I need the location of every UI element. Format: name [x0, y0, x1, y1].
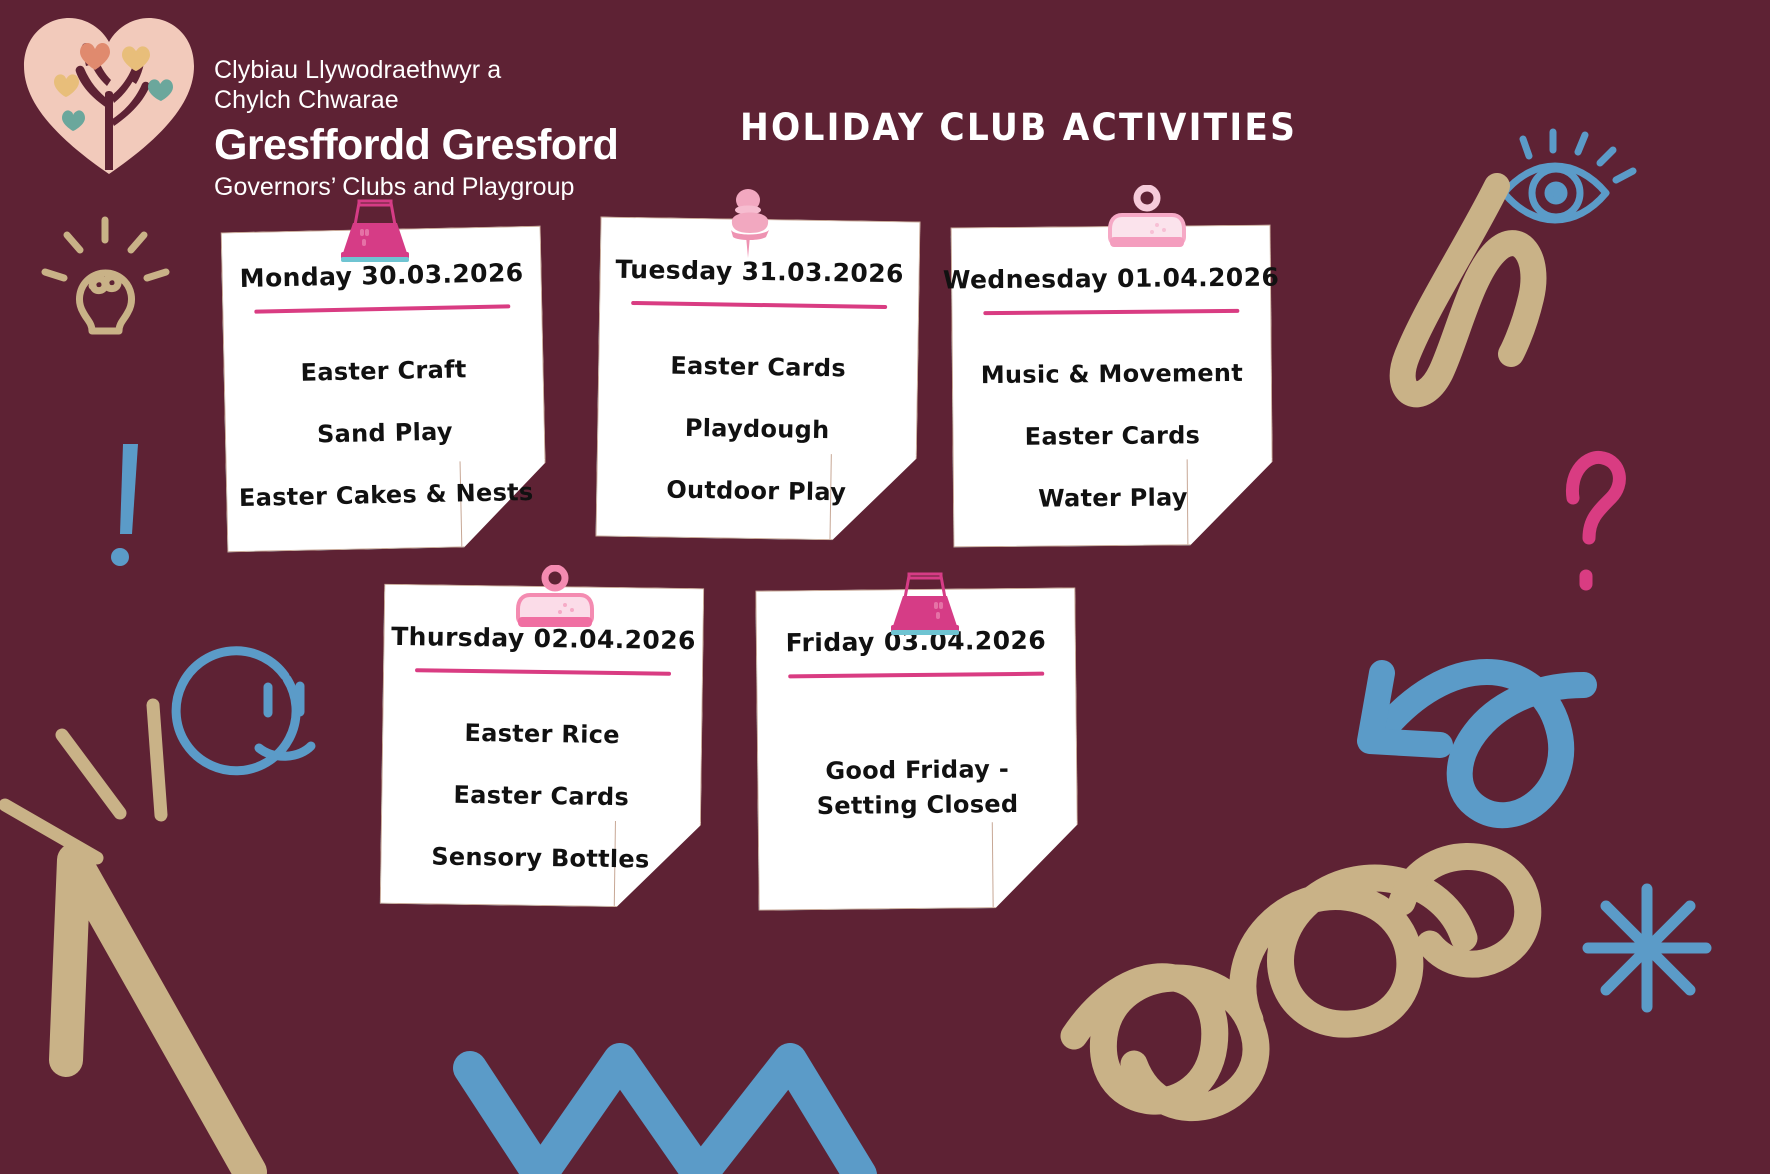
- card-activity-item: Easter Cards: [453, 778, 629, 815]
- card-divider-rule: [983, 309, 1239, 315]
- activity-card-wednesday[interactable]: Wednesday 01.04.2026 Music & Movement Ea…: [951, 225, 1274, 548]
- poster-canvas: Clybiau Llywodraethwyr a Chylch Chwarae …: [0, 0, 1770, 1174]
- logo-welsh-line-2: Chylch Chwarae: [214, 86, 618, 116]
- card-date-label: Thursday 02.04.2026: [391, 622, 696, 655]
- activity-card-monday[interactable]: Monday 30.03.2026 Easter Craft Sand Play…: [221, 226, 548, 553]
- brand-header: Clybiau Llywodraethwyr a Chylch Chwarae …: [18, 8, 618, 202]
- heart-tree-logo-icon: [18, 8, 200, 180]
- card-activity-item: Sensory Bottles: [431, 839, 650, 877]
- page-title: HOLIDAY CLUB ACTIVITIES: [740, 106, 1297, 149]
- card-divider-rule: [788, 672, 1044, 679]
- activity-card-thursday[interactable]: Thursday 02.04.2026 Easter Rice Easter C…: [380, 584, 704, 908]
- card-activity-item: Easter Cards: [670, 349, 846, 387]
- logo-welsh-line-1: Clybiau Llywodraethwyr a: [214, 56, 618, 86]
- activity-card-friday[interactable]: Friday 03.04.2026 Good Friday - Setting …: [755, 587, 1078, 910]
- card-activity-item: Sand Play: [317, 414, 453, 452]
- card-date-label: Monday 30.03.2026: [239, 258, 523, 293]
- card-activity-item: Good Friday - Setting Closed: [816, 752, 1018, 824]
- card-activity-item: Easter Cakes & Nests: [239, 474, 534, 515]
- card-activity-item: Easter Cards: [1025, 418, 1201, 454]
- card-date-label: Friday 03.04.2026: [786, 626, 1047, 658]
- activity-card-tuesday[interactable]: Tuesday 31.03.2026 Easter Cards Playdoug…: [596, 217, 921, 542]
- card-date-label: Tuesday 31.03.2026: [615, 255, 904, 289]
- card-activity-item: Outdoor Play: [666, 472, 846, 510]
- logo-subtitle: Governors’ Clubs and Playgroup: [214, 172, 618, 202]
- card-divider-rule: [415, 668, 671, 676]
- card-activity-item: Easter Rice: [464, 716, 620, 753]
- card-divider-rule: [254, 304, 510, 313]
- card-activity-item: Playdough: [685, 411, 830, 448]
- card-activity-item: Music & Movement: [981, 356, 1244, 393]
- card-activity-item: Water Play: [1038, 480, 1188, 516]
- card-divider-rule: [631, 301, 887, 309]
- logo-org-name: Gresffordd Gresford: [214, 123, 618, 168]
- card-activity-item: Easter Craft: [300, 352, 467, 390]
- card-date-label: Wednesday 01.04.2026: [943, 263, 1280, 295]
